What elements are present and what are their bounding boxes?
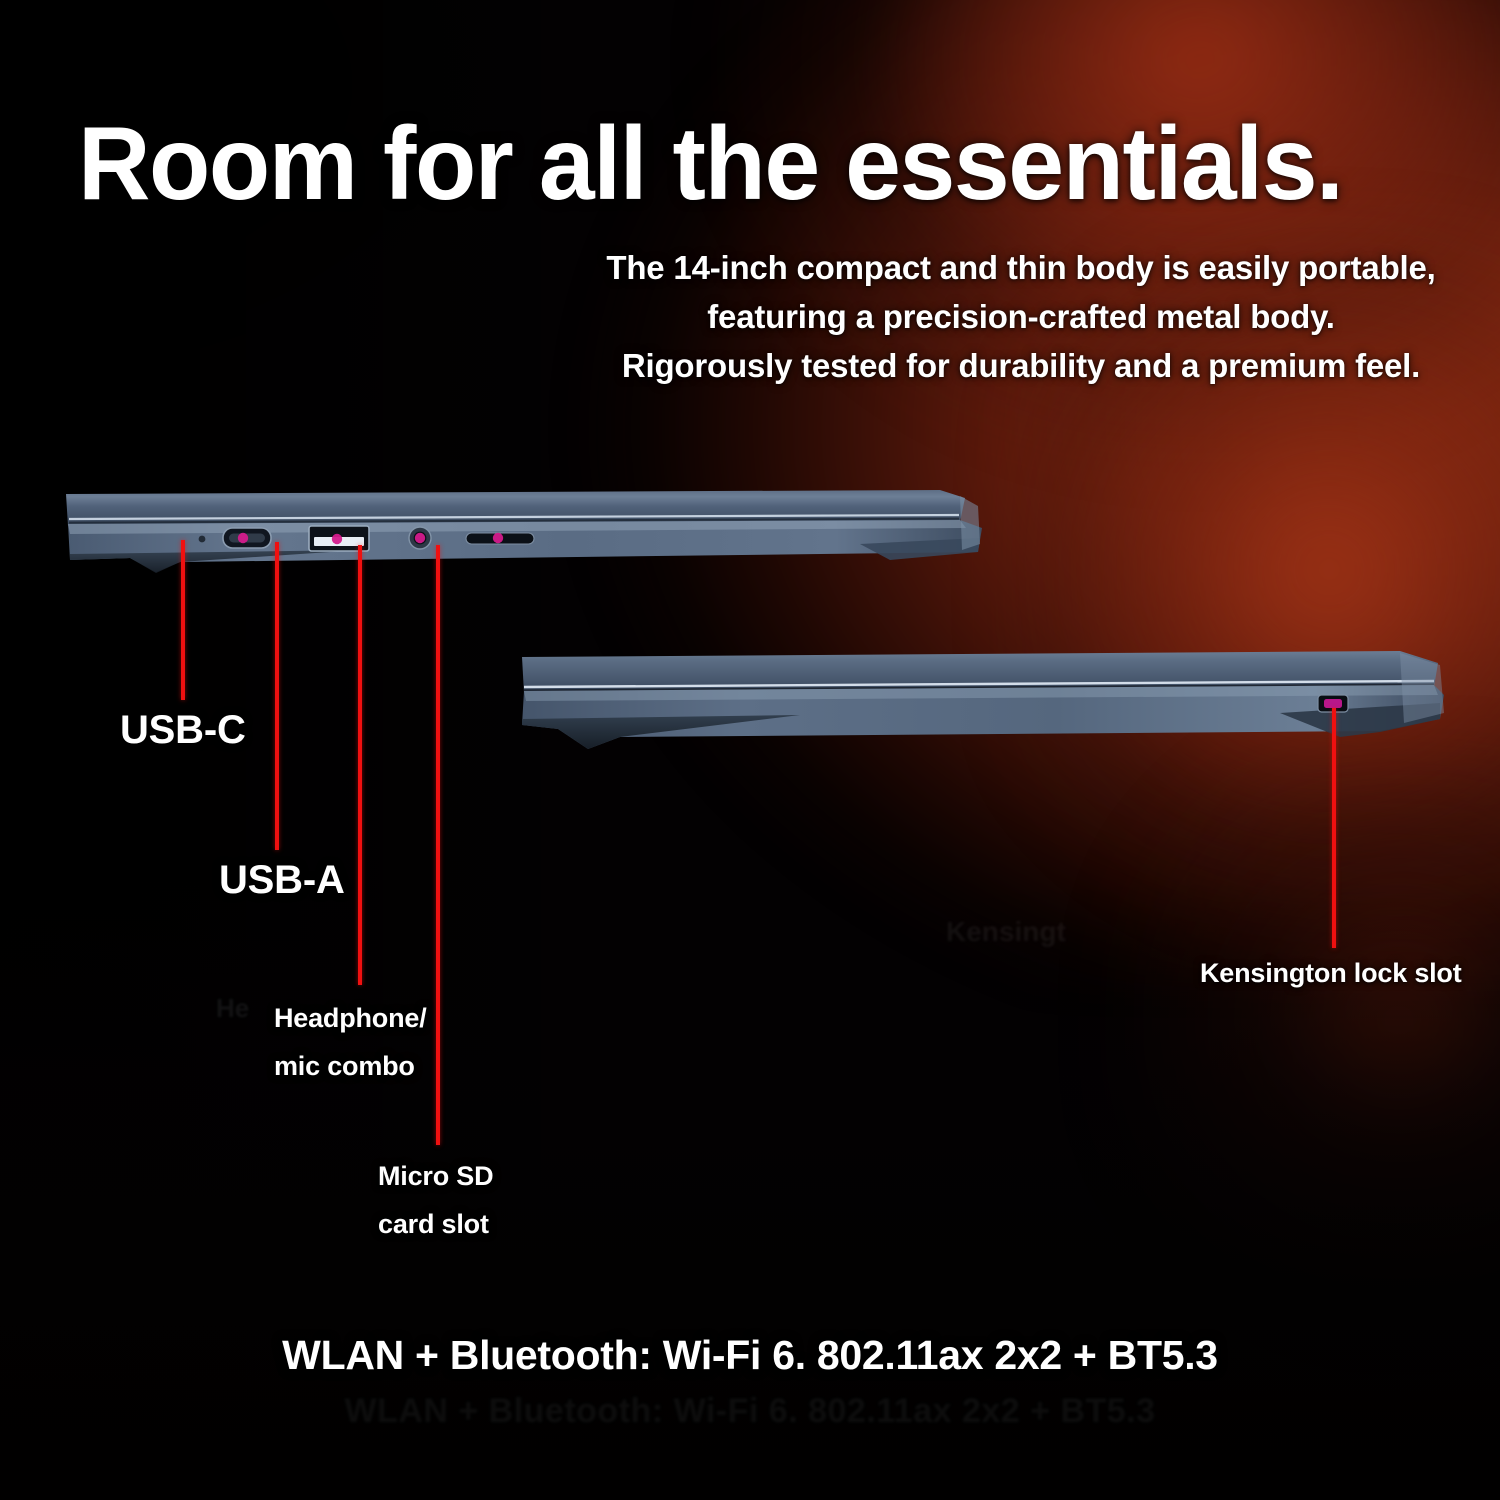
status-led	[199, 536, 206, 543]
callout-label-headphone: Headphone/ mic combo	[274, 994, 427, 1090]
callout-line-headphone	[358, 545, 362, 985]
ghost-artifact-headphone: He	[216, 993, 249, 1024]
callout-label-headphone-line-2: mic combo	[274, 1042, 427, 1090]
callout-line-microsd	[436, 545, 440, 1145]
ghost-artifact-kensington: Kensingt	[946, 916, 1066, 948]
subheadline-line-1: The 14-inch compact and thin body is eas…	[560, 243, 1482, 292]
callout-label-microsd-line-1: Micro SD	[378, 1152, 493, 1200]
callout-line-usb-c	[181, 540, 185, 700]
callout-label-usb-c: USB-C	[120, 708, 246, 753]
subheadline-line-2: featuring a precision-crafted metal body…	[560, 292, 1482, 341]
footer-spec-text: WLAN + Bluetooth: Wi-Fi 6. 802.11ax 2x2 …	[0, 1332, 1500, 1379]
usb-a-anchor-dot	[332, 534, 342, 544]
headphone-anchor-dot	[415, 533, 425, 543]
microsd-anchor-dot	[493, 533, 503, 543]
callout-label-microsd: Micro SD card slot	[378, 1152, 493, 1248]
headline: Room for all the essentials.	[78, 112, 1429, 216]
callout-label-microsd-line-2: card slot	[378, 1200, 493, 1248]
callout-line-kensington	[1332, 708, 1336, 948]
product-marketing-image: Room for all the essentials. The 14-inch…	[0, 0, 1500, 1500]
laptop-side-view-ports	[60, 488, 1000, 593]
footer-spec-ghost: WLAN + Bluetooth: Wi-Fi 6. 802.11ax 2x2 …	[0, 1392, 1500, 1431]
callout-label-headphone-line-1: Headphone/	[274, 994, 427, 1042]
callout-line-usb-a	[275, 542, 279, 850]
laptop-closed-view-kensington	[500, 645, 1450, 763]
laptop-right-endcap	[960, 496, 980, 550]
callout-label-kensington: Kensington lock slot	[1200, 958, 1462, 989]
callout-label-usb-a: USB-A	[219, 858, 345, 903]
subheadline: The 14-inch compact and thin body is eas…	[560, 243, 1482, 390]
usb-c-anchor-dot	[238, 533, 248, 543]
subheadline-line-3: Rigorously tested for durability and a p…	[560, 341, 1482, 390]
